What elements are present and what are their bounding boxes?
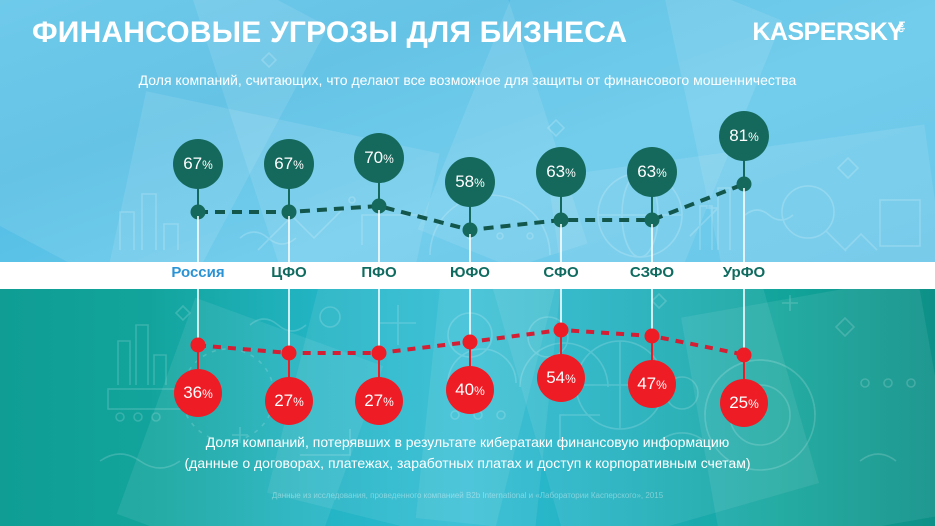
column-guide-bottom	[743, 289, 745, 355]
green-value-bubble: 63%	[627, 147, 677, 197]
column-guide-bottom	[288, 289, 290, 353]
green-value-bubble: 70%	[354, 133, 404, 183]
red-value-bubble: 27%	[265, 377, 313, 425]
red-value-label: 36%	[183, 383, 213, 403]
column-guide-top	[288, 216, 290, 262]
column-guide-top	[651, 224, 653, 262]
column-guide-top	[469, 234, 471, 262]
red-value-bubble: 40%	[446, 366, 494, 414]
column-guide-bottom	[378, 289, 380, 353]
region-label-2: ЦФО	[271, 264, 306, 281]
green-value-label: 67%	[183, 154, 213, 174]
kaspersky-logo: KASPERSKY lab	[752, 18, 917, 47]
green-value-label: 63%	[637, 162, 667, 182]
green-value-bubble: 81%	[719, 111, 769, 161]
red-data-point	[282, 345, 297, 360]
green-value-bubble: 63%	[536, 147, 586, 197]
logo-wordmark: KASPERSKY	[752, 18, 903, 47]
green-value-label: 81%	[729, 126, 759, 146]
region-label-5: СФО	[543, 264, 578, 281]
red-data-point	[372, 345, 387, 360]
green-value-bubble: 67%	[173, 139, 223, 189]
red-data-point	[191, 338, 206, 353]
green-value-label: 67%	[274, 154, 304, 174]
infographic-root: ФИНАНСОВЫЕ УГРОЗЫ ДЛЯ БИЗНЕСА KASPERSKY …	[0, 0, 935, 526]
green-value-label: 70%	[364, 148, 394, 168]
page-title: ФИНАНСОВЫЕ УГРОЗЫ ДЛЯ БИЗНЕСА	[32, 16, 627, 50]
red-value-bubble: 54%	[537, 354, 585, 402]
region-label-6: СЗФО	[630, 264, 674, 281]
red-value-label: 27%	[274, 391, 304, 411]
column-guide-top	[743, 188, 745, 262]
region-label-3: ПФО	[361, 264, 396, 281]
logo-lab-mark: lab	[897, 21, 905, 33]
red-value-label: 27%	[364, 391, 394, 411]
red-data-point	[737, 347, 752, 362]
red-value-bubble: 47%	[628, 360, 676, 408]
red-value-label: 54%	[546, 368, 576, 388]
red-value-bubble: 27%	[355, 377, 403, 425]
bottom-caption: Доля компаний, потерявших в результате к…	[0, 432, 935, 474]
region-label-7: УрФО	[723, 264, 765, 281]
red-value-bubble: 25%	[720, 379, 768, 427]
green-value-bubble: 58%	[445, 157, 495, 207]
red-value-label: 47%	[637, 374, 667, 394]
caption-line-2: (данные о договорах, платежах, заработны…	[0, 453, 935, 474]
column-guide-top	[197, 216, 199, 262]
caption-line-1: Доля компаний, потерявших в результате к…	[0, 432, 935, 453]
red-data-point	[463, 334, 478, 349]
red-data-point	[645, 328, 660, 343]
source-note: Данные из исследования, проведенного ком…	[0, 491, 935, 500]
green-value-bubble: 67%	[264, 139, 314, 189]
red-value-label: 25%	[729, 393, 759, 413]
top-subtitle: Доля компаний, считающих, что делают все…	[0, 72, 935, 88]
region-label-4: ЮФО	[450, 264, 490, 281]
red-value-label: 40%	[455, 380, 485, 400]
red-value-bubble: 36%	[174, 369, 222, 417]
region-label-1: Россия	[171, 264, 224, 281]
green-value-label: 63%	[546, 162, 576, 182]
red-data-point	[554, 323, 569, 338]
green-value-label: 58%	[455, 172, 485, 192]
column-guide-top	[560, 224, 562, 262]
column-guide-top	[378, 210, 380, 262]
